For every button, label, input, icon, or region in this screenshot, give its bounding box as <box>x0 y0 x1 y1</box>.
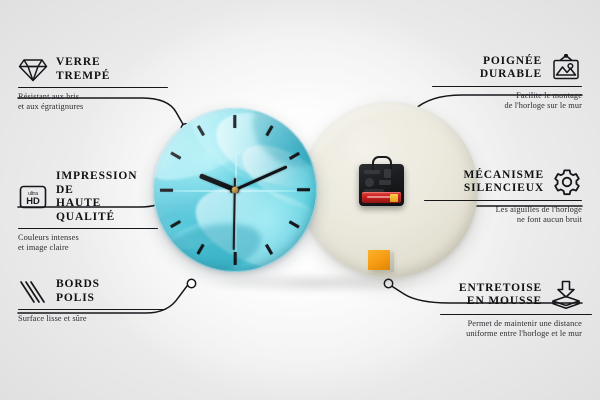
feature-header: ultra HD IMPRESSION DE HAUTE QUALITÉ <box>18 170 158 224</box>
feature-title: VERRE TREMPÉ <box>56 56 110 83</box>
feature-entretoise-en-mousse: ENTRETOISE EN MOUSSE Permet de maintenir… <box>440 280 582 339</box>
foam-spacer-pad <box>368 250 390 270</box>
feature-subtitle: Permet de maintenir une distance uniform… <box>422 319 582 339</box>
diamond-icon <box>18 57 48 83</box>
clock-mechanism <box>359 164 404 206</box>
feature-divider <box>424 200 582 201</box>
gear-icon <box>552 168 582 196</box>
feature-title: ENTRETOISE EN MOUSSE <box>459 282 542 309</box>
feature-title: MÉCANISME SILENCIEUX <box>464 169 545 196</box>
feature-impression-haute-qualite: ultra HD IMPRESSION DE HAUTE QUALITÉ Cou… <box>18 170 158 253</box>
infographic-canvas: VERRE TREMPÉ Résistant aux bris et aux é… <box>0 0 600 400</box>
feature-subtitle: Les aiguilles de l'horloge ne font aucun… <box>424 205 582 225</box>
feature-poignee-durable: POIGNÉE DURABLE Facilite le montage de l… <box>432 54 582 111</box>
feature-divider <box>432 86 582 87</box>
feature-title: POIGNÉE DURABLE <box>480 55 542 82</box>
feature-header: POIGNÉE DURABLE <box>432 54 582 82</box>
feature-divider <box>18 309 166 310</box>
glass-edge-shading <box>153 108 317 272</box>
clock-battery <box>362 192 401 203</box>
feature-header: ENTRETOISE EN MOUSSE <box>440 280 582 310</box>
ultra-hd-icon: ultra HD <box>18 184 48 210</box>
feature-mecanisme-silencieux: MÉCANISME SILENCIEUX Les aiguilles de l'… <box>424 168 582 225</box>
product-drop-shadow <box>168 268 468 298</box>
feature-subtitle: Facilite le montage de l'horloge sur le … <box>432 91 582 111</box>
feature-verre-trempe: VERRE TREMPÉ Résistant aux bris et aux é… <box>18 56 168 112</box>
feature-bords-polis: BORDS POLIS Surface lisse et sûre <box>18 278 166 324</box>
feature-divider <box>18 228 158 229</box>
feature-title: BORDS POLIS <box>56 278 100 305</box>
ultra-hd-icon-label-bottom: HD <box>26 195 40 206</box>
feature-header: VERRE TREMPÉ <box>18 56 168 83</box>
feature-title: IMPRESSION DE HAUTE QUALITÉ <box>56 170 158 224</box>
feature-header: BORDS POLIS <box>18 278 166 305</box>
feature-header: MÉCANISME SILENCIEUX <box>424 168 582 196</box>
polished-edges-icon <box>18 279 48 305</box>
feature-divider <box>18 87 168 88</box>
feature-divider <box>440 314 592 315</box>
feature-subtitle: Surface lisse et sûre <box>18 314 166 324</box>
clock-hanger-loop <box>372 156 392 170</box>
hanging-frame-icon <box>550 54 582 82</box>
clock-front-view <box>153 108 317 272</box>
battery-positive-terminal <box>390 194 398 202</box>
foam-spacer-icon <box>550 280 582 310</box>
feature-subtitle: Résistant aux bris et aux égratignures <box>18 92 168 112</box>
feature-subtitle: Couleurs intenses et image claire <box>18 233 158 253</box>
